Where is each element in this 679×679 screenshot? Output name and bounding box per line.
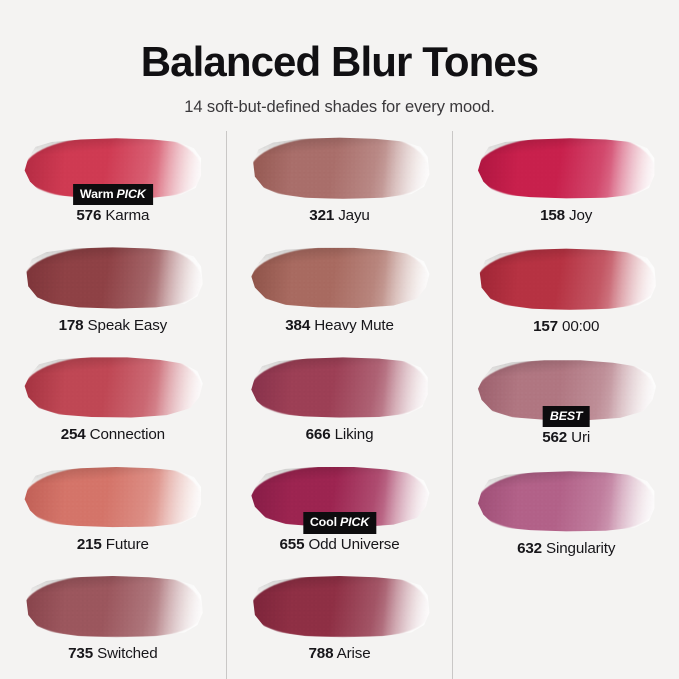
swatch-sheen bbox=[23, 247, 203, 309]
shade-caption: 254 Connection bbox=[61, 425, 165, 444]
shade-column-2: 321 Jayu384 Heavy Mute666 LikingCoolPICK… bbox=[226, 131, 453, 679]
lipstick-swatch bbox=[250, 247, 430, 309]
page-subtitle: 14 soft-but-defined shades for every moo… bbox=[0, 88, 679, 117]
page-header: Balanced Blur Tones 14 soft-but-defined … bbox=[0, 0, 679, 117]
swatch-texture bbox=[250, 137, 430, 199]
shade-name: Future bbox=[102, 536, 149, 553]
shade-code: 321 bbox=[309, 207, 334, 224]
shade-code: 157 bbox=[533, 318, 558, 335]
swatch-shadow bbox=[23, 575, 203, 637]
swatch-wrapper bbox=[476, 248, 656, 310]
shade-caption: 632 Singularity bbox=[517, 539, 615, 558]
swatch-shadow bbox=[23, 356, 203, 418]
swatch-texture bbox=[476, 248, 656, 310]
swatch-wrapper bbox=[250, 575, 430, 637]
shade-code: 215 bbox=[77, 536, 102, 553]
badge-label-primary: BEST bbox=[550, 409, 583, 423]
shade-caption: 788 Arise bbox=[309, 644, 371, 663]
shade-card[interactable]: 178 Speak Easy bbox=[0, 241, 226, 351]
shade-caption: 562 Uri bbox=[542, 428, 590, 447]
swatch-shadow bbox=[250, 356, 430, 418]
shade-name: Uri bbox=[567, 429, 590, 446]
shade-name: Singularity bbox=[542, 540, 615, 557]
swatch-sheen bbox=[476, 470, 656, 532]
swatch-texture bbox=[250, 356, 430, 418]
shade-caption: 655 Odd Universe bbox=[280, 535, 400, 554]
shade-code: 735 bbox=[68, 645, 93, 662]
pick-badge: WarmPICK bbox=[73, 184, 153, 205]
shade-caption: 157 00:00 bbox=[533, 317, 599, 336]
shade-card[interactable]: 157 00:00 bbox=[453, 242, 679, 353]
shade-caption: 178 Speak Easy bbox=[59, 316, 168, 335]
shade-card[interactable]: 788 Arise bbox=[227, 569, 453, 679]
lipstick-swatch bbox=[476, 470, 656, 532]
swatch-texture bbox=[476, 470, 656, 532]
swatch-texture bbox=[250, 247, 430, 309]
swatch-sheen bbox=[23, 356, 203, 418]
swatch-wrapper: BEST bbox=[476, 359, 656, 421]
shade-column-3: 158 Joy157 00:00BEST562 Uri632 Singulari… bbox=[452, 131, 679, 679]
swatch-sheen bbox=[23, 466, 203, 528]
shade-code: 254 bbox=[61, 426, 86, 443]
swatch-wrapper bbox=[23, 356, 203, 418]
shade-name: Joy bbox=[565, 207, 592, 224]
swatch-sheen bbox=[250, 137, 430, 199]
shade-code: 632 bbox=[517, 540, 542, 557]
shade-card[interactable]: 632 Singularity bbox=[453, 464, 679, 575]
shade-card[interactable]: BEST562 Uri bbox=[453, 353, 679, 464]
shade-column-1: WarmPICK576 Karma178 Speak Easy254 Conne… bbox=[0, 131, 226, 679]
lipstick-swatch bbox=[250, 356, 430, 418]
shade-name: Connection bbox=[86, 426, 165, 443]
lipstick-swatch bbox=[23, 575, 203, 637]
swatch-wrapper bbox=[250, 356, 430, 418]
lipstick-swatch bbox=[250, 137, 430, 199]
swatch-shadow bbox=[23, 247, 203, 309]
swatch-sheen bbox=[250, 575, 430, 637]
shade-card[interactable]: 321 Jayu bbox=[227, 131, 453, 241]
shade-caption: 666 Liking bbox=[306, 425, 374, 444]
shade-card[interactable]: 384 Heavy Mute bbox=[227, 241, 453, 351]
swatch-texture bbox=[23, 466, 203, 528]
swatch-texture bbox=[250, 575, 430, 637]
lipstick-swatch bbox=[476, 248, 656, 310]
swatch-shadow bbox=[476, 248, 656, 310]
shade-caption: 321 Jayu bbox=[309, 206, 369, 225]
swatch-sheen bbox=[250, 247, 430, 309]
swatch-shadow bbox=[23, 466, 203, 528]
shade-name: Switched bbox=[93, 645, 158, 662]
badge-label-primary: Cool bbox=[310, 515, 337, 529]
lipstick-swatch bbox=[23, 247, 203, 309]
swatch-wrapper bbox=[476, 137, 656, 199]
shade-card[interactable]: 254 Connection bbox=[0, 350, 226, 460]
swatch-wrapper bbox=[250, 247, 430, 309]
shade-card[interactable]: WarmPICK576 Karma bbox=[0, 131, 226, 241]
shade-card[interactable]: 158 Joy bbox=[453, 131, 679, 242]
swatch-wrapper bbox=[23, 466, 203, 528]
lipstick-swatch bbox=[23, 356, 203, 418]
shade-card[interactable]: 666 Liking bbox=[227, 350, 453, 460]
shade-grid: WarmPICK576 Karma178 Speak Easy254 Conne… bbox=[0, 131, 679, 679]
lipstick-swatch bbox=[250, 575, 430, 637]
shade-caption: 576 Karma bbox=[76, 206, 149, 225]
swatch-shadow bbox=[250, 137, 430, 199]
shade-card[interactable]: 215 Future bbox=[0, 460, 226, 570]
shade-card[interactable]: 735 Switched bbox=[0, 569, 226, 679]
shade-code: 666 bbox=[306, 426, 331, 443]
swatch-wrapper bbox=[250, 137, 430, 199]
swatch-sheen bbox=[250, 356, 430, 418]
swatch-texture bbox=[23, 247, 203, 309]
swatch-wrapper bbox=[23, 247, 203, 309]
badge-label-primary: Warm bbox=[80, 187, 114, 201]
shade-code: 178 bbox=[59, 317, 84, 334]
swatch-texture bbox=[23, 575, 203, 637]
lipstick-swatch bbox=[23, 466, 203, 528]
shade-card[interactable]: CoolPICK655 Odd Universe bbox=[227, 460, 453, 570]
swatch-shadow bbox=[250, 247, 430, 309]
swatch-wrapper: WarmPICK bbox=[23, 137, 203, 199]
swatch-sheen bbox=[23, 575, 203, 637]
swatch-texture bbox=[476, 137, 656, 199]
pick-badge: BEST bbox=[543, 406, 590, 427]
swatch-texture bbox=[23, 356, 203, 418]
shade-caption: 158 Joy bbox=[540, 206, 592, 225]
shade-name: Heavy Mute bbox=[310, 317, 394, 334]
pick-badge: CoolPICK bbox=[303, 512, 376, 533]
shade-code: 788 bbox=[309, 645, 334, 662]
shade-code: 562 bbox=[542, 429, 567, 446]
shade-caption: 215 Future bbox=[77, 535, 149, 554]
swatch-shadow bbox=[476, 137, 656, 199]
shade-name: Jayu bbox=[334, 207, 370, 224]
shade-code: 384 bbox=[285, 317, 310, 334]
swatch-wrapper: CoolPICK bbox=[250, 466, 430, 528]
shade-name: Karma bbox=[101, 207, 149, 224]
shade-caption: 384 Heavy Mute bbox=[285, 316, 394, 335]
shade-caption: 735 Switched bbox=[68, 644, 157, 663]
swatch-sheen bbox=[476, 248, 656, 310]
swatch-wrapper bbox=[476, 470, 656, 532]
badge-label-secondary: PICK bbox=[340, 515, 369, 529]
badge-label-secondary: PICK bbox=[117, 187, 146, 201]
swatch-shadow bbox=[250, 575, 430, 637]
swatch-shadow bbox=[476, 470, 656, 532]
shade-code: 158 bbox=[540, 207, 565, 224]
shade-code: 576 bbox=[76, 207, 101, 224]
shade-name: Liking bbox=[331, 426, 374, 443]
page-title: Balanced Blur Tones bbox=[0, 0, 679, 88]
shade-name: 00:00 bbox=[558, 318, 599, 335]
shade-name: Arise bbox=[333, 645, 370, 662]
swatch-sheen bbox=[476, 137, 656, 199]
shade-name: Odd Universe bbox=[304, 536, 399, 553]
lipstick-swatch bbox=[476, 137, 656, 199]
shade-name: Speak Easy bbox=[83, 317, 167, 334]
shade-chart-page: Balanced Blur Tones 14 soft-but-defined … bbox=[0, 0, 679, 679]
swatch-wrapper bbox=[23, 575, 203, 637]
shade-code: 655 bbox=[280, 536, 305, 553]
